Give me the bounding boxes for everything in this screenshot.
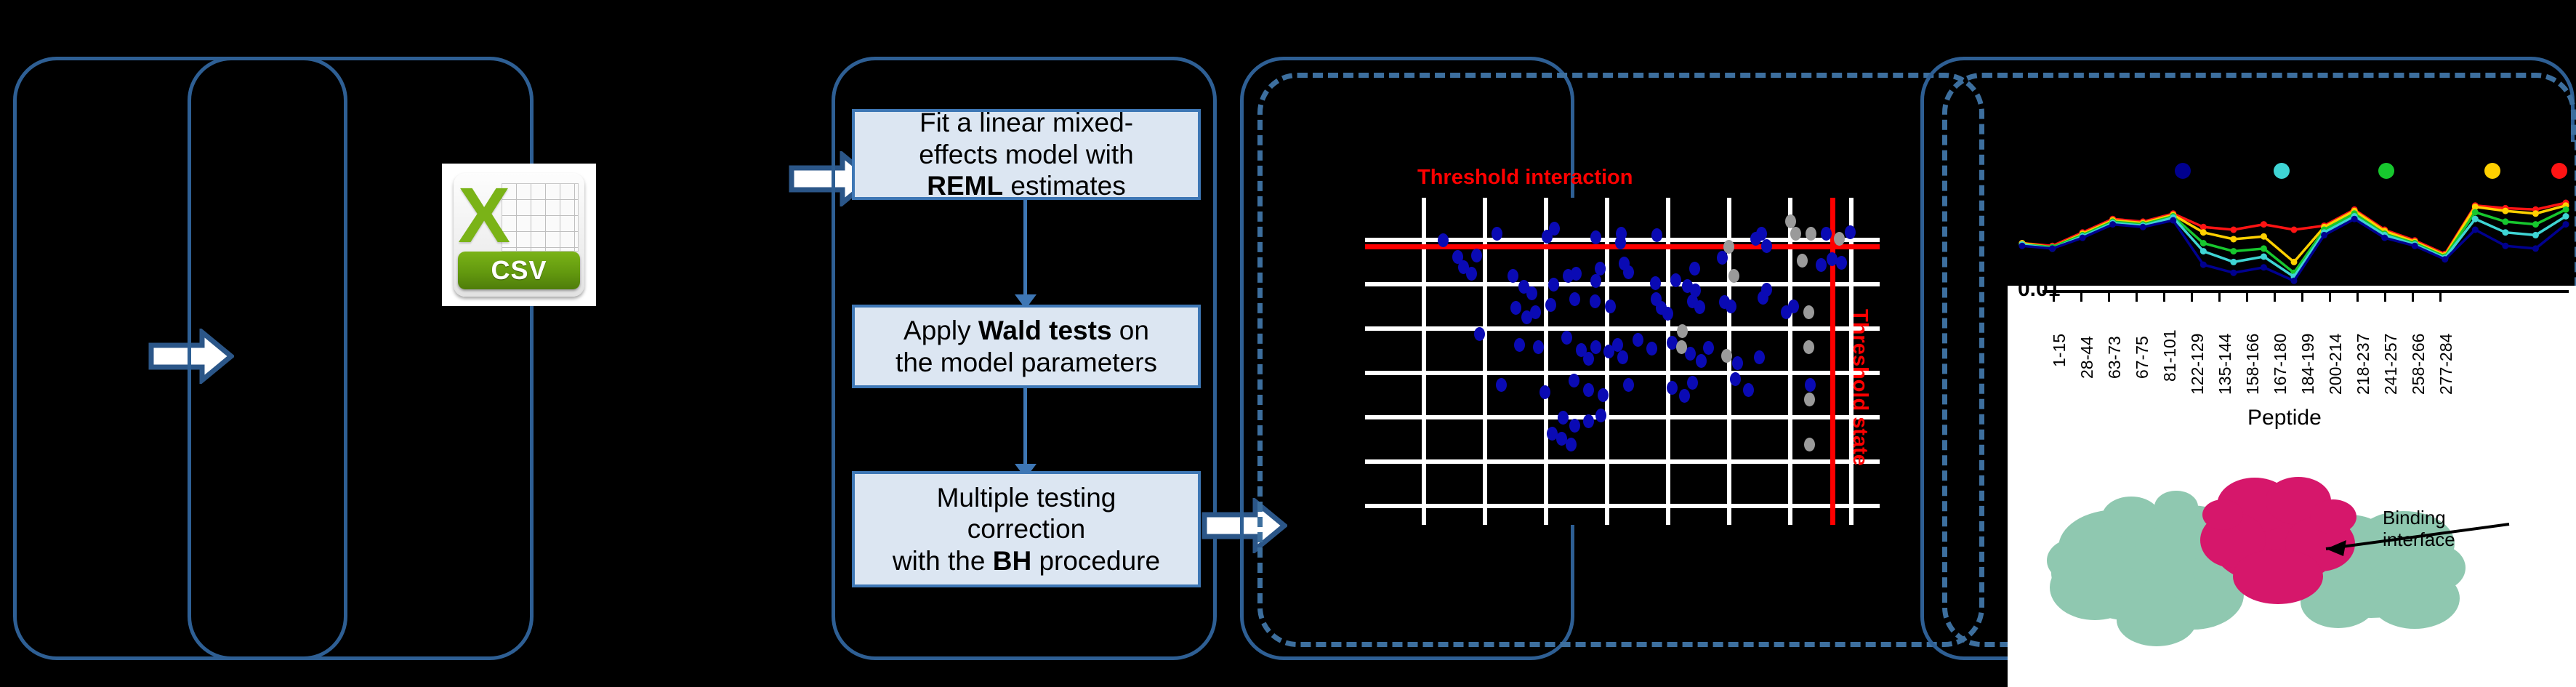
scatter-point <box>1471 249 1482 262</box>
csv-file-icon[interactable]: X CSV <box>442 164 596 306</box>
chart-point-series-navy <box>2291 278 2298 284</box>
scatter-point <box>1754 350 1765 364</box>
threshold-state-label: Threshold state <box>1848 309 1872 466</box>
axis-tick <box>2329 290 2331 302</box>
chart-point-series-navy <box>2472 227 2479 233</box>
box-wald-bold: Wald tests <box>978 316 1112 345</box>
chart-point-series-navy <box>2261 264 2267 270</box>
scatter-point <box>1595 262 1606 276</box>
chart-point-series-green <box>2261 245 2267 252</box>
axis-tick <box>2356 290 2359 302</box>
scatter-point <box>1804 438 1815 451</box>
chart-point-series-navy <box>2230 270 2237 276</box>
peptide-figure-card[interactable]: 0.01 1-15 28-44 63-73 67-75 81-101 122-1… <box>2008 286 2576 687</box>
scatter-point <box>1571 267 1582 281</box>
scatter-point <box>1595 409 1606 422</box>
scatter-point <box>1583 383 1594 397</box>
legend-dot-series-gold <box>2484 163 2500 179</box>
peptide-tick-label: 63-73 <box>2105 336 2125 379</box>
scatter-plot[interactable] <box>1365 198 1880 525</box>
legend-dot-series-cyan <box>2274 163 2290 179</box>
scatter-point <box>1803 305 1814 319</box>
scatter-point <box>1533 340 1544 354</box>
scatter-point <box>1549 222 1560 236</box>
scatter-point <box>1548 278 1559 292</box>
scatter-point <box>1545 298 1556 312</box>
peptide-tick-label: 167-180 <box>2271 334 2290 395</box>
box-reml-bold: REML <box>927 171 1003 201</box>
axis-tick <box>2053 290 2055 302</box>
peptide-tick-label: 258-266 <box>2409 334 2428 395</box>
scatter-point <box>1761 239 1772 253</box>
scatter-point <box>1526 286 1537 300</box>
scatter-point <box>1694 300 1705 314</box>
scatter-point <box>1728 269 1739 283</box>
scatter-point <box>1605 300 1616 313</box>
scatter-point <box>1623 378 1634 392</box>
chart-point-series-green <box>2563 206 2569 213</box>
chart-point-series-cyan <box>2200 248 2207 254</box>
scatter-point <box>1717 251 1728 265</box>
peptide-tick-label: 241-257 <box>2381 334 2401 395</box>
scatter-point <box>1676 340 1687 354</box>
chart-point-series-red <box>2230 227 2237 233</box>
scatter-point <box>1651 228 1662 242</box>
scatter-point <box>1583 352 1594 366</box>
scatter-point <box>1662 307 1673 321</box>
scatter-point <box>1677 324 1688 338</box>
scatter-point <box>1617 350 1628 364</box>
scatter-point <box>1539 385 1550 399</box>
scatter-point <box>1650 276 1661 290</box>
scatter-point <box>1834 232 1845 246</box>
chart-point-series-navy <box>2563 221 2569 228</box>
axis-tick <box>2136 290 2138 302</box>
chart-point-series-navy <box>2442 256 2448 262</box>
chart-point-series-green <box>2532 221 2539 228</box>
axis-tick <box>2191 290 2193 302</box>
chart-point-series-cyan <box>2230 259 2237 265</box>
protein-structure-illustration <box>2008 438 2576 678</box>
chart-point-series-gold <box>2200 229 2207 236</box>
box-wald-line3post: on <box>1112 316 1149 345</box>
chart-point-series-navy <box>2049 245 2056 252</box>
scatter-point <box>1667 381 1678 395</box>
csv-label-band: CSV <box>458 252 580 289</box>
axis-tick <box>2246 290 2248 302</box>
scatter-point <box>1797 254 1808 268</box>
scatter-point <box>1590 294 1601 308</box>
scatter-point <box>1566 438 1577 451</box>
scatter-point <box>1679 389 1690 403</box>
chart-point-series-red <box>2291 227 2298 233</box>
scatter-point <box>1670 273 1681 287</box>
scatter-point <box>1696 354 1707 368</box>
box-bh-line3pre: with the <box>893 546 993 576</box>
peptide-axis-title: Peptide <box>2247 406 2322 430</box>
peptide-tick-label: 218-237 <box>2354 334 2373 395</box>
chart-point-series-red <box>2261 221 2267 228</box>
chart-point-series-cyan <box>2261 254 2267 260</box>
scatter-point <box>1508 269 1518 283</box>
chart-point-series-navy <box>2532 245 2539 252</box>
chart-point-series-navy <box>2140 224 2146 230</box>
scatter-point <box>1569 292 1580 306</box>
scatter-point <box>1689 262 1700 276</box>
scatter-point <box>1438 233 1449 247</box>
scatter-point <box>1845 225 1856 239</box>
chart-point-series-navy <box>2412 243 2418 249</box>
scatter-point <box>1732 356 1743 370</box>
scatter-point <box>1805 378 1816 392</box>
chart-point-series-cyan <box>2502 229 2508 236</box>
box-reml[interactable]: Fit a linear mixed- effects model with R… <box>852 109 1201 200</box>
scatter-point <box>1806 227 1816 241</box>
peptide-tick-label: 277-284 <box>2436 334 2456 395</box>
scatter-point <box>1598 388 1609 402</box>
chart-point-series-navy <box>2381 235 2388 241</box>
scatter-point <box>1590 230 1601 244</box>
chart-point-series-gold <box>2261 233 2267 240</box>
scatter-point <box>1569 419 1580 433</box>
peptide-tick-label: 67-75 <box>2133 336 2152 379</box>
chart-point-series-gold <box>2291 259 2298 265</box>
scatter-point <box>1569 374 1579 387</box>
scatter-point <box>1633 333 1643 347</box>
box-reml-line1: Fit a linear mixed- <box>919 108 1133 137</box>
binding-interface-label: Binding interface <box>2383 507 2455 551</box>
axis-tick <box>2412 290 2414 302</box>
csv-x-letter: X <box>458 176 510 254</box>
scatter-point <box>1788 300 1799 313</box>
box-wald-line3pre: Apply <box>903 316 978 345</box>
peptide-tick-label: 184-199 <box>2298 334 2318 395</box>
scatter-point <box>1510 301 1521 315</box>
scatter-point <box>1821 227 1832 241</box>
box-bh-line2: correction <box>967 514 1085 544</box>
binding-interface-label-line1: Binding <box>2383 507 2455 529</box>
scatter-point <box>1743 383 1754 397</box>
scatter-point <box>1790 227 1801 241</box>
box-bh[interactable]: Multiple testing correction with the BH … <box>852 471 1201 587</box>
box-wald-line4: the model parameters <box>895 347 1157 377</box>
peptide-tick-label: 200-214 <box>2326 334 2346 395</box>
scatter-point <box>1804 393 1815 406</box>
chart-point-series-navy <box>2170 217 2176 224</box>
legend-dot-series-green <box>2378 163 2394 179</box>
scatter-point <box>1530 305 1541 319</box>
axis-tick <box>2080 290 2082 302</box>
chart-point-series-gold <box>2502 208 2508 214</box>
connector-reml-wald <box>1023 200 1027 302</box>
chart-point-series-cyan <box>2472 216 2479 222</box>
chart-point-series-navy <box>2321 232 2327 238</box>
peptide-tick-label: 28-44 <box>2077 336 2097 379</box>
scatter-point <box>1730 372 1741 386</box>
chart-point-series-green <box>2502 218 2508 225</box>
scatter-point <box>1558 411 1569 425</box>
chart-point-series-cyan <box>2532 232 2539 238</box>
scatter-point <box>1687 376 1698 390</box>
scatter-point <box>1803 340 1814 354</box>
chart-point-series-green <box>2472 209 2479 215</box>
legend-dot-series-red <box>2551 163 2567 179</box>
axis-tick <box>2384 290 2386 302</box>
csv-stage-panel[interactable] <box>188 57 534 660</box>
scatter-point <box>1616 227 1627 241</box>
box-reml-line2: effects model with <box>919 140 1133 169</box>
chart-point-series-navy <box>2109 221 2116 228</box>
csv-grid-icon <box>502 183 579 252</box>
csv-icon-body: X CSV <box>454 173 584 297</box>
scatter-point <box>1590 340 1601 354</box>
peptide-tick-label: 135-144 <box>2215 334 2235 395</box>
peptide-tick-label: 158-166 <box>2243 334 2263 395</box>
box-reml-line3post: estimates <box>1003 171 1126 201</box>
peptide-axis-line <box>2042 290 2569 293</box>
chart-point-series-navy <box>2080 235 2086 241</box>
axis-tick <box>2218 290 2221 302</box>
chart-point-series-gold <box>2230 236 2237 242</box>
scatter-point <box>1492 227 1502 241</box>
scatter-point <box>1836 256 1847 270</box>
peptide-tick-label: 1-15 <box>2050 334 2069 367</box>
binding-interface-label-line2: interface <box>2383 529 2455 551</box>
peptide-tick-label: 122-129 <box>2188 334 2207 395</box>
box-wald[interactable]: Apply Wald tests on the model parameters <box>852 305 1201 388</box>
scatter-point <box>1703 341 1714 355</box>
chart-point-series-navy <box>2502 243 2508 249</box>
box-bh-line3post: procedure <box>1031 546 1160 576</box>
threshold-interaction-label: Threshold interaction <box>1417 166 1633 190</box>
scatter-point <box>1758 291 1768 305</box>
legend-dot-series-navy <box>2175 163 2191 179</box>
peptide-tick-label: 81-101 <box>2160 329 2180 382</box>
axis-tick <box>2301 290 2303 302</box>
axis-tick <box>2163 290 2165 302</box>
scatter-point <box>1721 349 1732 363</box>
scatter-point <box>1816 258 1827 272</box>
chart-point-series-gold <box>2532 210 2539 217</box>
axis-tick <box>2108 290 2110 302</box>
box-bh-bold: BH <box>993 546 1031 576</box>
chart-point-series-green <box>2230 248 2237 254</box>
box-bh-line1: Multiple testing <box>937 483 1116 513</box>
scatter-point <box>1561 331 1572 345</box>
scatter-point <box>1583 414 1594 428</box>
chart-point-series-cyan <box>2563 213 2569 220</box>
threshold-state-line <box>1830 198 1835 525</box>
scatter-point <box>1623 265 1634 279</box>
scatter-point <box>1590 274 1601 288</box>
axis-tick <box>2274 290 2276 302</box>
scatter-point <box>1466 267 1477 281</box>
scatter-point <box>1646 342 1657 355</box>
chart-point-series-green <box>2200 240 2207 246</box>
chart-point-series-navy <box>2019 243 2026 249</box>
chart-point-series-navy <box>2351 216 2358 222</box>
chart-point-series-navy <box>2200 262 2207 268</box>
scatter-point <box>1496 378 1507 392</box>
axis-tick <box>2439 290 2442 302</box>
scatter-point <box>1514 338 1525 352</box>
scatter-point <box>1474 327 1485 341</box>
scatter-point <box>1726 300 1736 313</box>
csv-label-text: CSV <box>491 255 547 286</box>
